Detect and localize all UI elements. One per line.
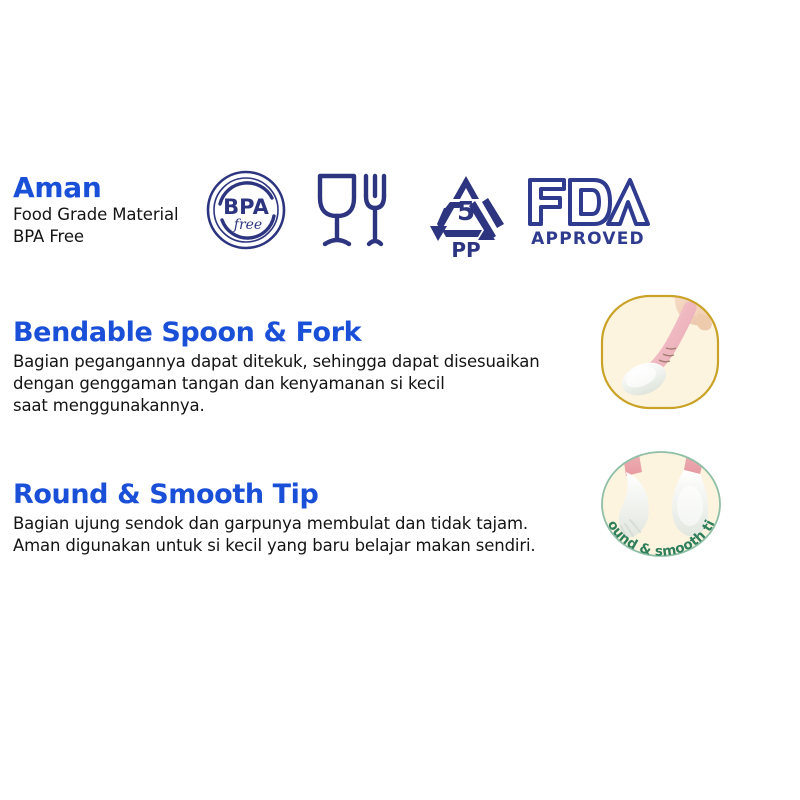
fda-approved-icon: APPROVED xyxy=(524,172,652,248)
bpa-free-secondary-text: free xyxy=(233,217,262,233)
recycle-code-number: 5 xyxy=(457,197,475,227)
recycle-material-caption: PP xyxy=(451,238,480,260)
feature-body-line-1: Bagian pegangannya dapat ditekuk, sehing… xyxy=(13,351,583,373)
feature-body-line-2: dengan genggaman tangan dan kenyamanan s… xyxy=(13,373,583,395)
feature-body-line-1: Bagian ujung sendok dan garpunya membula… xyxy=(13,513,583,535)
certification-row: Aman Food Grade Material BPA Free BPA fr… xyxy=(0,160,800,270)
feature-title: Bendable Spoon & Fork xyxy=(13,318,583,348)
aman-subline-bpa-free: BPA Free xyxy=(13,226,213,248)
feature-body-line-2: Aman digunakan untuk si kecil yang baru … xyxy=(13,535,583,557)
infographic-canvas: Aman Food Grade Material BPA Free BPA fr… xyxy=(0,0,800,800)
recycle-pp-icon: 5 PP xyxy=(420,168,512,260)
food-grade-glass-fork-icon xyxy=(312,168,396,252)
fda-approved-caption: APPROVED xyxy=(531,229,645,248)
aman-headline: Aman xyxy=(13,173,213,202)
thumbnail-bendable-spoon xyxy=(598,292,722,412)
aman-subline-food-grade: Food Grade Material xyxy=(13,204,213,226)
feature-body-line-3: saat menggunakannya. xyxy=(13,395,583,417)
feature-bendable-spoon-fork: Bendable Spoon & Fork Bagian pegangannya… xyxy=(13,318,583,418)
aman-text-block: Aman Food Grade Material BPA Free xyxy=(13,173,213,248)
bpa-free-primary-text: BPA xyxy=(223,195,269,219)
feature-title: Round & Smooth Tip xyxy=(13,480,583,510)
thumbnail-round-smooth-tip: Round & smooth tip xyxy=(596,446,726,570)
feature-round-smooth-tip: Round & Smooth Tip Bagian ujung sendok d… xyxy=(13,480,583,557)
bpa-free-icon: BPA free xyxy=(204,168,288,252)
